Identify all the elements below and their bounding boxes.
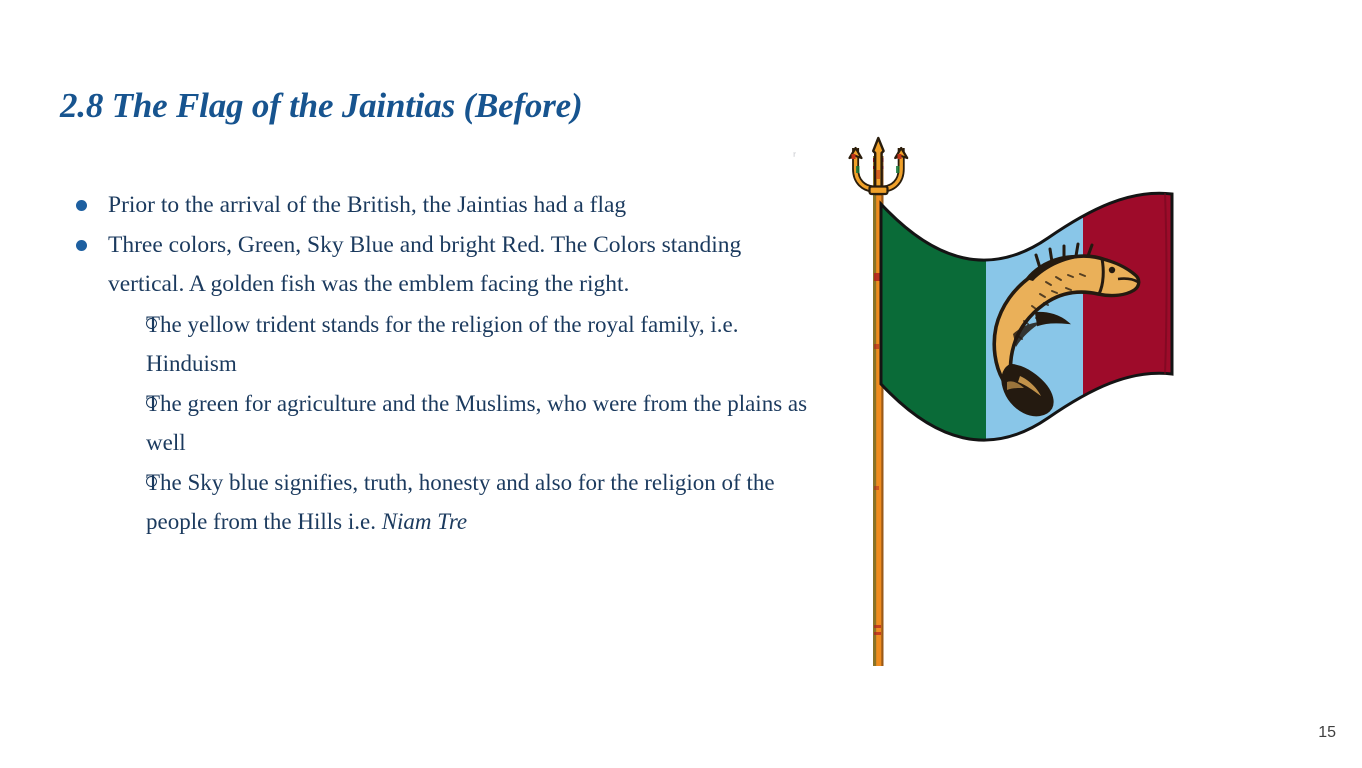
bullet-disc-icon <box>60 186 108 225</box>
list-item: Prior to the arrival of the British, the… <box>60 186 820 225</box>
sub-list-item-text: The Sky blue signifies, truth, honesty a… <box>146 463 820 541</box>
flag-illustration <box>840 136 1190 676</box>
page-title: 2.8 The Flag of the Jaintias (Before) <box>60 86 582 126</box>
bullet-disc-icon <box>60 226 108 265</box>
sub-list-item-text: The yellow trident stands for the religi… <box>146 305 820 383</box>
flag-band-darkred <box>1083 176 1190 476</box>
flag-band-green <box>870 176 986 476</box>
bullet-circle-icon <box>60 305 146 344</box>
list-item-text: Prior to the arrival of the British, the… <box>108 186 820 225</box>
list-item: Three colors, Green, Sky Blue and bright… <box>60 226 820 304</box>
list-item-text: Three colors, Green, Sky Blue and bright… <box>108 226 820 304</box>
page-number: 15 <box>1318 724 1336 742</box>
sub-list-item: The green for agriculture and the Muslim… <box>60 384 820 462</box>
sub-list-item-text: The green for agriculture and the Muslim… <box>146 384 820 462</box>
sub-list-item: The Sky blue signifies, truth, honesty a… <box>60 463 820 541</box>
trident-icon <box>850 138 908 194</box>
bullet-circle-icon <box>60 384 146 423</box>
stray-artifact-mark: ʳ <box>793 150 797 162</box>
sub-list-item-text-italic: Niam Tre <box>382 509 467 534</box>
bullet-list: Prior to the arrival of the British, the… <box>60 186 820 542</box>
bullet-circle-icon <box>60 463 146 502</box>
sub-list-item: The yellow trident stands for the religi… <box>60 305 820 383</box>
